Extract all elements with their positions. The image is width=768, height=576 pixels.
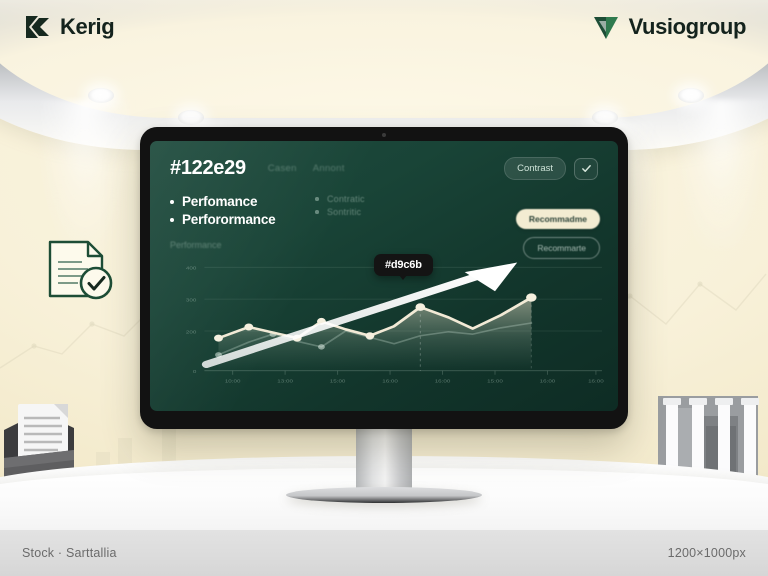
- monitor: 400 300 200 0: [140, 127, 628, 429]
- light-glow: [676, 100, 766, 250]
- brand-name-left: Kerig: [60, 14, 114, 40]
- brand-logo-vusiogroup: Vusiogroup: [591, 12, 746, 42]
- bullet-dot-icon: [170, 200, 174, 204]
- list-item: Perfomance: [170, 194, 275, 209]
- nav-item-annont[interactable]: Annont: [313, 163, 345, 174]
- nav-item-casen[interactable]: Casen: [268, 163, 297, 174]
- light-glow: [40, 100, 130, 250]
- monitor-base: [286, 487, 482, 503]
- screen-ui: #122e29 Casen Annont Contrast: [150, 141, 618, 411]
- document-verified-icon: [44, 238, 116, 308]
- bullet-label: Perfomance: [182, 194, 257, 209]
- bullet-label: Perforormance: [182, 212, 275, 227]
- recommend-secondary-button[interactable]: Recommarte: [523, 237, 600, 259]
- scene: Kerig Vusiogroup: [0, 0, 768, 576]
- nav-menu: Casen Annont: [268, 163, 345, 174]
- footer-source-label: Stock · Sarttallia: [22, 546, 117, 560]
- bullet-label: Sontritic: [327, 207, 361, 217]
- confirm-check-button[interactable]: [574, 158, 598, 180]
- list-item: Perforormance: [170, 212, 275, 227]
- monitor-screen: 400 300 200 0: [150, 141, 618, 411]
- brand-name-right: Vusiogroup: [629, 14, 746, 40]
- brand-logo-kerig: Kerig: [22, 12, 114, 42]
- bullet-dot-icon: [315, 197, 319, 201]
- data-point-tooltip: #d9c6b: [374, 254, 433, 276]
- list-item: Sontritic: [315, 207, 364, 217]
- webcam-icon: [382, 133, 386, 137]
- bullet-list-primary: Perfomance Perforormance: [170, 194, 275, 230]
- recommendation-pills: Recommadme Recommarte: [516, 209, 600, 259]
- check-icon: [581, 163, 592, 174]
- page-title: #122e29: [170, 157, 246, 180]
- list-item: Contratic: [315, 194, 364, 204]
- ui-actions: Contrast: [504, 157, 598, 180]
- recommend-primary-button[interactable]: Recommadme: [516, 209, 600, 229]
- monitor-neck: [356, 429, 412, 495]
- bullet-list-secondary: Contratic Sontritic: [315, 194, 364, 230]
- footer-bar: Stock · Sarttallia 1200×1000px: [0, 530, 768, 576]
- contrast-button[interactable]: Contrast: [504, 157, 566, 180]
- chevron-v-logo-icon: [591, 12, 621, 42]
- ui-topbar: #122e29 Casen Annont Contrast: [170, 157, 598, 180]
- bullet-dot-icon: [170, 218, 174, 222]
- bullet-label: Contratic: [327, 194, 365, 204]
- bracket-logo-icon: [22, 12, 52, 42]
- bullet-dot-icon: [315, 210, 319, 214]
- footer-dimensions-label: 1200×1000px: [668, 546, 746, 560]
